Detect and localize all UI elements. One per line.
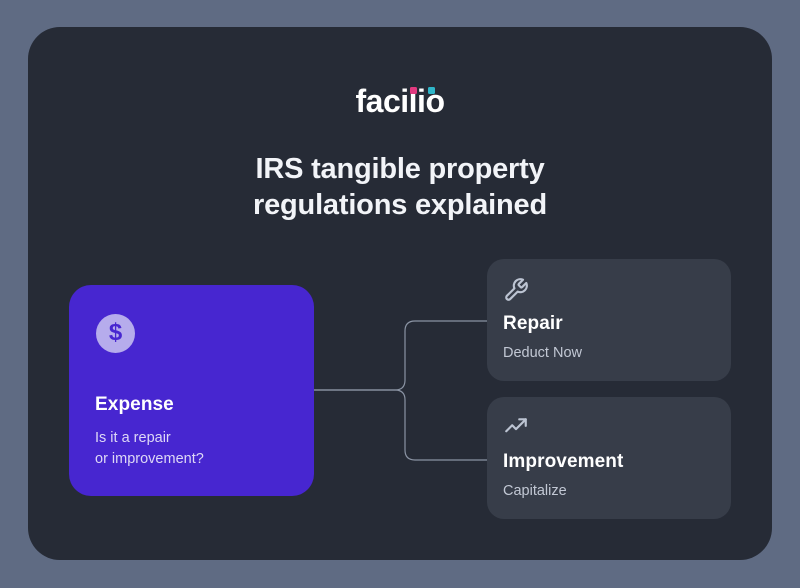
card-expense-subtitle-line-2: or improvement?: [95, 449, 204, 470]
card-expense-subtitle-line-1: Is it a repair: [95, 428, 204, 449]
card-expense-subtitle: Is it a repair or improvement?: [95, 428, 204, 470]
card-repair-title: Repair: [503, 313, 563, 335]
tools-icon: [503, 277, 529, 303]
dollar-coin-icon: $: [96, 314, 135, 353]
card-repair-subtitle: Deduct Now: [503, 345, 582, 361]
card-expense-title: Expense: [95, 394, 174, 416]
card-repair[interactable]: Repair Deduct Now: [487, 259, 731, 381]
trending-up-icon: [503, 415, 529, 441]
card-improvement-subtitle: Capitalize: [503, 483, 567, 499]
dollar-glyph: $: [109, 321, 122, 345]
screenshot-stage: facilio IRS tangible property regulation…: [0, 0, 800, 588]
card-improvement-title: Improvement: [503, 451, 623, 473]
card-improvement[interactable]: Improvement Capitalize: [487, 397, 731, 519]
